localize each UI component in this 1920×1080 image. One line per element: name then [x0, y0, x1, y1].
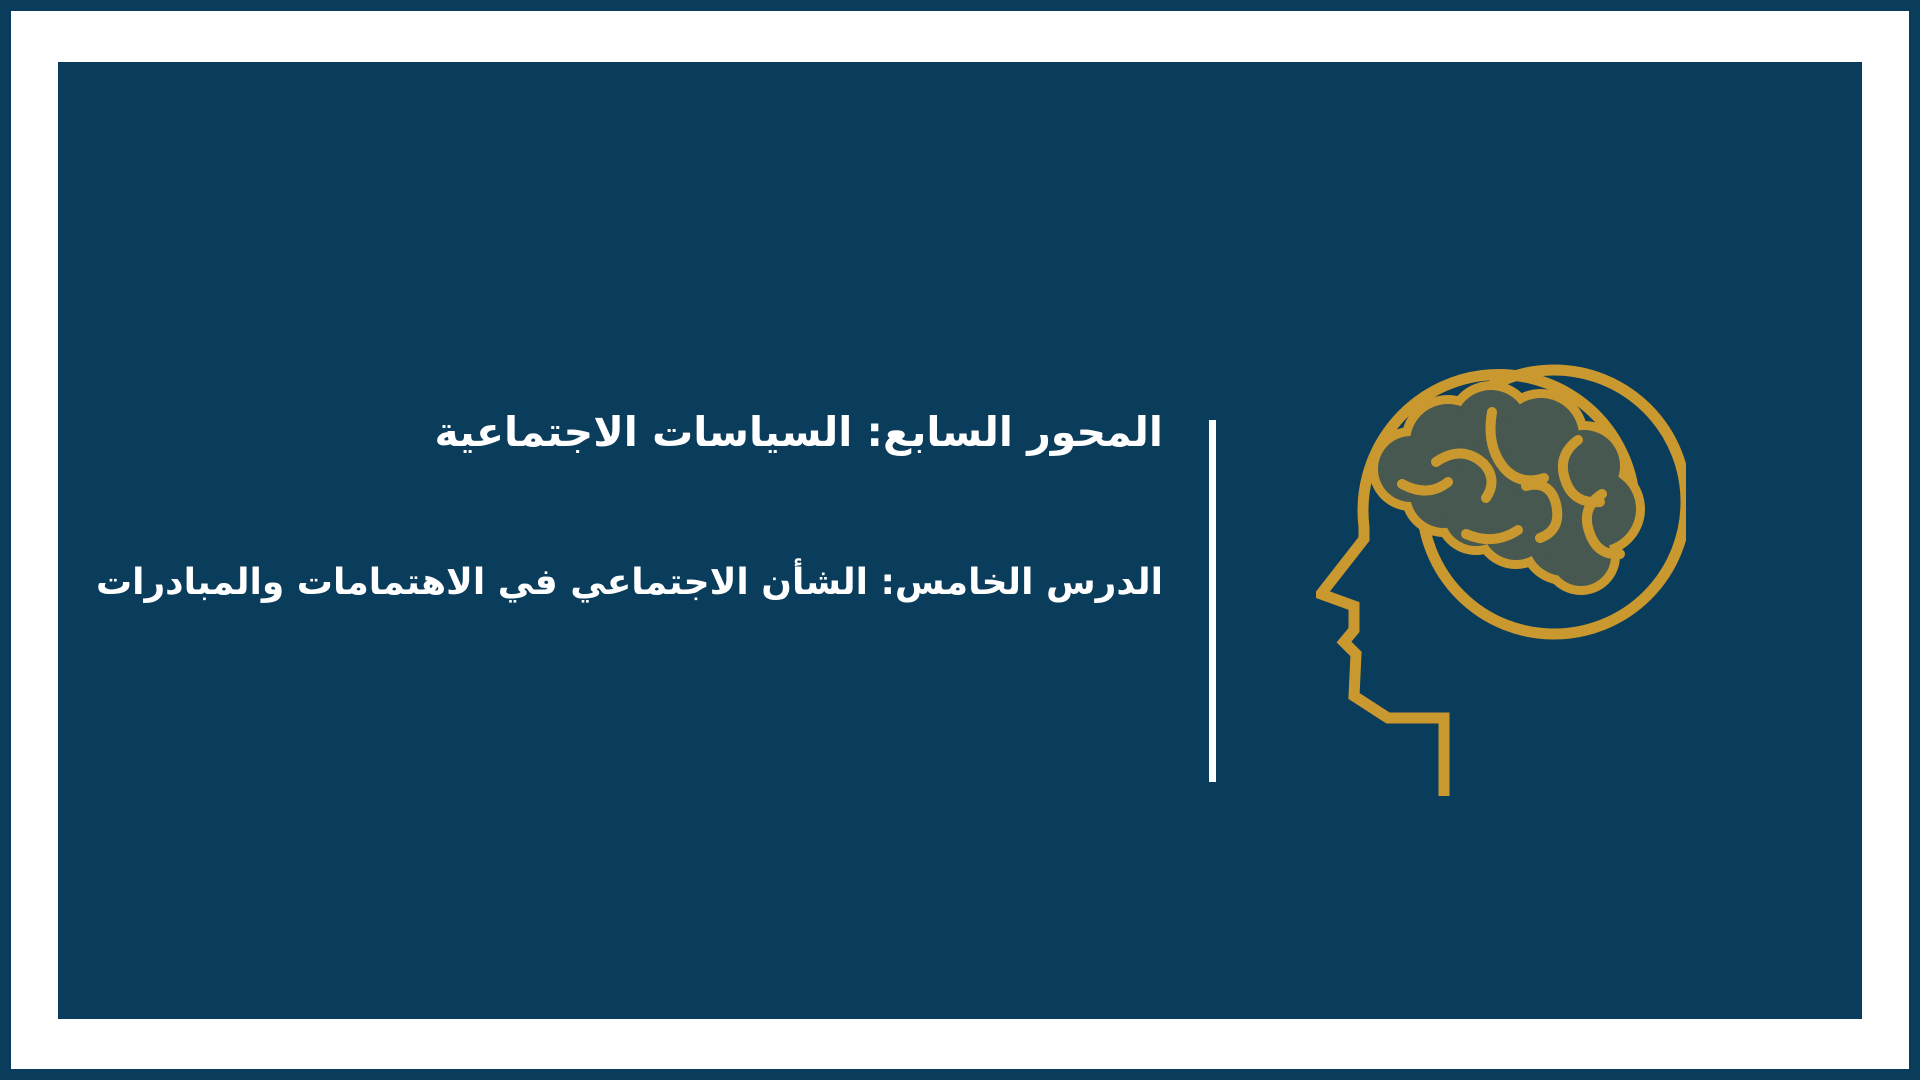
page-subtitle: الدرس الخامس: الشأن الاجتماعي في الاهتما… [118, 560, 1163, 605]
slide-panel: المحور السابع: السياسات الاجتماعية الدرس… [58, 62, 1862, 1019]
head-brain-icon-svg [1316, 344, 1686, 804]
vertical-divider [1209, 420, 1216, 782]
page-title: المحور السابع: السياسات الاجتماعية [118, 407, 1163, 458]
slide-root: المحور السابع: السياسات الاجتماعية الدرس… [0, 0, 1920, 1080]
head-brain-icon [1316, 344, 1686, 804]
